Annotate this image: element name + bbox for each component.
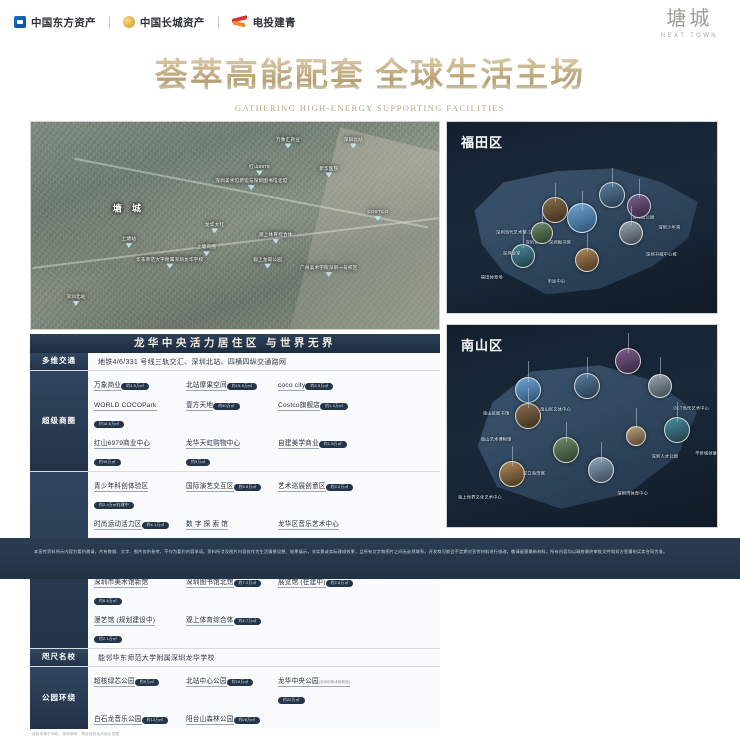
facility-area-badge: 约6.6万㎡ [94,598,122,605]
facility-name: 龙华中央公园(含深圳美术馆新馆) [278,675,350,687]
page-subtitle: GATHERING HIGH-ENERGY SUPPORTING FACILIT… [0,103,740,113]
table-row-content: 能邻华东师范大学附属深圳龙华学校 [88,649,440,666]
facility-area-badge: 约22万㎡ [278,697,305,704]
district-point-label: 深圳会堂 [503,250,521,255]
district-point-label: 南山区文体中心 [540,406,571,411]
facility-name: 北站摩果空间 [186,379,227,391]
facility-area-badge: 约5万㎡ [186,459,210,466]
facility-name: 艺术巡展创意区 [278,480,326,492]
facility-area-badge: 约4.5万㎡ [121,383,149,390]
leader-line [555,183,556,202]
logo-china-orient: 中国东方资产 [14,15,96,30]
district-title: 福田区 [461,132,503,151]
facilities-table: 龙华中央活力居住区 与世界无界 多维交通地铁4/6/331 号线三轨交汇、深圳北… [30,334,440,737]
district-title: 南山区 [461,335,503,354]
logo-label: 中国东方资产 [31,15,96,30]
facility-name: 红山6979商业中心 [94,437,150,449]
logo-great-wall: 中国长城资产 [123,15,205,30]
facility-name: 万象商业 [94,379,121,391]
table-row: 超级商圈万象商业约4.5万㎡北站摩果空间约15.5万㎡coco city约5.5… [30,371,440,472]
district-point-label: 蛇口海湾馆 [523,470,545,475]
facility-area-badge: 约9万㎡ [135,679,159,686]
facility-item: 超核绿芯公园约9万㎡ [94,670,172,706]
facility-area-badge: 约5.8万㎡ [234,484,262,491]
facility-item: coco city约5.5万㎡ [278,374,356,392]
facility-item: WORLD COCOPark约18.6万㎡ [94,394,172,430]
facility-area-badge: 约4.1万㎡ [142,522,170,529]
table-title: 龙华中央活力居住区 与世界无界 [30,334,440,353]
facility-area-badge: 约5.5万㎡ [305,383,333,390]
district-point-label: 南山艺术博物馆 [481,436,512,441]
table-row-label: 公园环绕 [30,667,88,729]
district-point-label: 深圳少年宫 [659,225,681,230]
facility-name: coco city [278,382,305,391]
table-footnote: 资料来源于网络、现场调研、项目资料及手绘示意图 [30,729,440,737]
facility-item: Costco旗舰店约1.4万㎡ [278,394,356,430]
page-title: 荟萃高能配套 全球生活主场 [0,48,740,96]
leader-line [582,191,583,210]
brand-name-en: NEXT TOWN [661,33,718,39]
facility-area-badge: 约2.1万㎡ [94,636,122,643]
facility-area-badge: 约4.7万㎡ [234,618,262,625]
headline-block: 荟萃高能配套 全球生活主场 GATHERING HIGH-ENERGY SUPP… [0,48,740,113]
facility-item: 阳台山森林公园约28万㎡ [186,708,264,726]
facility-area-badge: 约60万㎡ [213,403,240,410]
brand-name-cn: 塘城 [661,8,718,31]
facility-name: 时尚运动活力区 [94,518,142,530]
facility-note: (含深圳美术馆新馆) [319,680,350,684]
facility-area-badge: 约18.6万㎡ [94,421,124,428]
leader-line [612,168,613,187]
district-point-label: 福田体育场 [481,274,503,279]
leader-line [566,422,567,442]
facility-area-badge: 约7.2万㎡ [234,580,262,587]
poster-page: 中国东方资产 中国长城资产 电投建青 塘城 NEXT TOWN 荟萃高能配套 全… [0,0,740,579]
facility-name: 北站中心公园 [186,675,227,687]
facility-item: 红山6979商业中心约15万㎡ [94,432,172,468]
divider [109,16,110,29]
table-row-label: 咫尺名校 [30,649,88,666]
facility-area-badge: 约2.8万㎡ [326,580,354,587]
leader-line [601,442,602,462]
facility-area-badge: 约18万㎡ [227,679,254,686]
district-panel-nanshan: 南山区 南山区图书馆南山艺术博物馆南山区文体中心华·演艺中心OCT当代艺术中心华… [446,324,718,528]
district-point-label: 南山区图书馆 [483,410,509,415]
leader-line [636,408,637,428]
leader-line [660,357,661,377]
district-point-label: 深圳人才公园 [652,453,678,458]
red-ribbon-logo-icon [232,16,248,28]
district-point-label: 深圳湾体育中心 [617,491,648,496]
table-row-content: 地铁4/6/331 号线三轨交汇、深圳北站、四横四纵交通路网 [88,353,440,370]
facility-area-badge: 约28万㎡ [234,717,261,724]
facility-name: 阳台山森林公园 [186,713,234,725]
facility-item: 龙华天虹购物中心约5万㎡ [186,432,264,468]
table-row: 多维交通地铁4/6/331 号线三轨交汇、深圳北站、四横四纵交通路网 [30,353,440,371]
table-row-content: 超核绿芯公园约9万㎡北站中心公园约18万㎡龙华中央公园(含深圳美术馆新馆)约22… [88,667,440,729]
facility-item: 龙华中央公园(含深圳美术馆新馆)约22万㎡ [278,670,356,706]
facility-area-badge: 约1.8万㎡ [319,441,347,448]
leader-line [587,357,588,377]
brand-logo: 塘城 NEXT TOWN [661,8,718,39]
district-point-label: OCT当代艺术中心 [673,405,709,410]
facility-name: 龙华天虹购物中心 [186,437,240,449]
facility-name: 漫艺馆 (规划建设中) [94,614,155,626]
leader-line [631,206,632,225]
aerial-map: 万象汇商业深圳北站红山6979新华医院深圳美术馆新馆与深圳图书馆北馆COSTCO… [30,121,440,330]
facility-name: 青少年科创体验区 [94,480,148,492]
table-row: 公园环绕超核绿芯公园约9万㎡北站中心公园约18万㎡龙华中央公园(含深圳美术馆新馆… [30,667,440,729]
square-blue-logo-icon [14,16,26,28]
facility-area-badge: 约1.4万㎡ [320,403,348,410]
leader-line [528,361,529,381]
facility-item: 壹方天地约60万㎡ [186,394,264,430]
facility-item: 自建美学商业约1.8万㎡ [278,432,356,468]
facility-name: 国际演艺交互区 [186,480,234,492]
facility-name: 超核绿芯公园 [94,675,135,687]
facility-area-badge: 约2.4万㎡在建中 [94,502,134,509]
facility-area-badge: 约3.2万㎡ [326,484,354,491]
district-photo-marker [626,426,646,446]
facility-item: 万象商业约4.5万㎡ [94,374,172,392]
district-point-label: 市民中心 [548,278,566,283]
district-point-label: 海上世界文化艺术中心 [458,495,502,500]
leader-line [542,206,543,225]
district-point-label: 华侨城创意园 [695,450,718,455]
facility-name: 自建美学商业 [278,437,319,449]
leader-line [587,233,588,252]
facility-name: 观上体育综合体 [186,614,234,626]
leader-line [528,388,529,408]
partner-logo-bar: 中国东方资产 中国长城资产 电投建青 [0,0,740,44]
leader-line [512,446,513,466]
legal-disclaimer: 本宣传资料所示内容为要约邀请。片有数据、文字、图片仅供参考，不作为要约内容承诺。… [0,538,740,579]
facility-item: 青少年科创体验区约2.4万㎡在建中 [94,475,172,511]
facility-area-badge: 约12万㎡ [142,717,169,724]
facility-name: 白石龙音乐公园 [94,713,142,725]
table-row-label: 超级商圈 [30,371,88,471]
leader-line [677,402,678,422]
facility-item: 艺术巡展创意区约3.2万㎡ [278,475,356,511]
facility-area-badge: 约15.5万㎡ [227,383,257,390]
table-row-content: 万象商业约4.5万㎡北站摩果空间约15.5万㎡coco city约5.5万㎡WO… [88,371,440,471]
district-point-label: 深圳书城中心城 [646,251,677,256]
facility-name: 数 字 探 索 馆 [186,518,228,530]
facility-name: Costco旗舰店 [278,399,320,411]
facility-name: WORLD COCOPark [94,402,157,411]
facility-item: 观上体育综合体约4.7万㎡ [186,609,264,645]
logo-label: 中国长城资产 [140,15,205,30]
facility-item: 北站摩果空间约15.5万㎡ [186,374,264,392]
leader-line [523,229,524,248]
facility-item: 北站中心公园约18万㎡ [186,670,264,706]
logo-third-partner: 电投建青 [232,15,296,30]
divider [218,16,219,29]
leader-line [639,179,640,198]
table-row: 咫尺名校能邻华东师范大学附属深圳龙华学校 [30,649,440,667]
leader-line [628,333,629,353]
facility-item: 白石龙音乐公园约12万㎡ [94,708,172,726]
facility-area-badge: 约15万㎡ [94,459,121,466]
facility-name: 壹方天地 [186,399,213,411]
logo-label: 电投建青 [253,15,296,30]
facility-item: 国际演艺交互区约5.8万㎡ [186,475,264,511]
district-panel-futian: 福田区 深圳音乐厅·深圳图书馆深圳当代艺术馆·深圳博物馆莲花山公园深圳少年宫深圳… [446,121,718,314]
circle-gold-logo-icon [123,16,135,28]
facility-name: 龙华区音乐艺术中心 [278,518,339,530]
facility-item: 漫艺馆 (规划建设中)约2.1万㎡ [94,609,172,645]
table-row-label: 多维交通 [30,353,88,370]
